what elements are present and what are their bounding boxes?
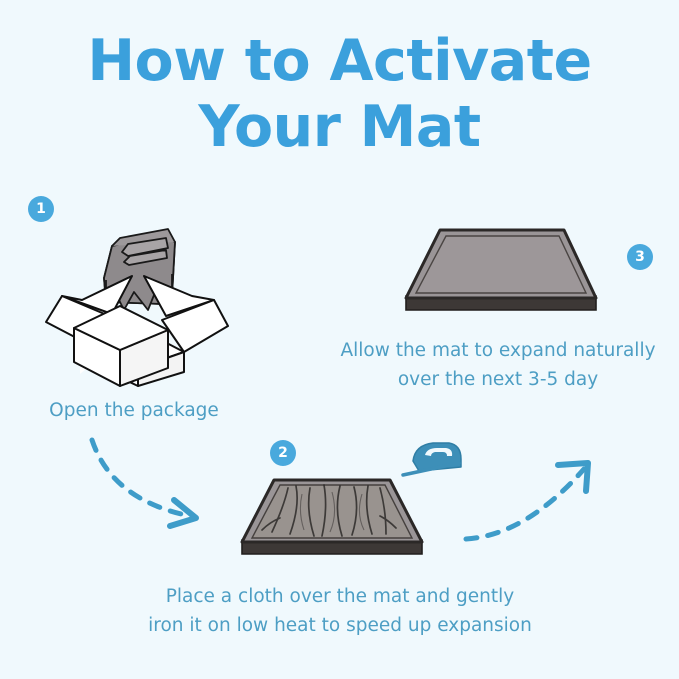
step-3-caption-line-1: Allow the mat to expand naturally (325, 336, 671, 365)
step-1-caption: Open the package (0, 396, 268, 425)
page-title-line-1: How to Activate (0, 28, 679, 94)
open-box-icon (44, 218, 229, 393)
step-3-caption: Allow the mat to expand naturally over t… (325, 336, 671, 394)
step-2-badge: 2 (270, 440, 296, 466)
flat-mat-icon (398, 222, 603, 327)
step-2-caption-line-1: Place a cloth over the mat and gently (110, 582, 570, 611)
arrow-step2-to-step3-icon (462, 443, 602, 558)
iron-icon (399, 437, 467, 492)
page-title-line-2: Your Mat (0, 94, 679, 160)
infographic-canvas: How to Activate Your Mat 1 (0, 0, 679, 679)
step-2-caption: Place a cloth over the mat and gently ir… (110, 582, 570, 640)
page-title: How to Activate Your Mat (0, 28, 679, 160)
step-3-badge: 3 (627, 244, 653, 270)
step-3-caption-line-2: over the next 3-5 day (325, 365, 671, 394)
arrow-step1-to-step2-icon (86, 432, 226, 547)
step-2-caption-line-2: iron it on low heat to speed up expansio… (110, 611, 570, 640)
